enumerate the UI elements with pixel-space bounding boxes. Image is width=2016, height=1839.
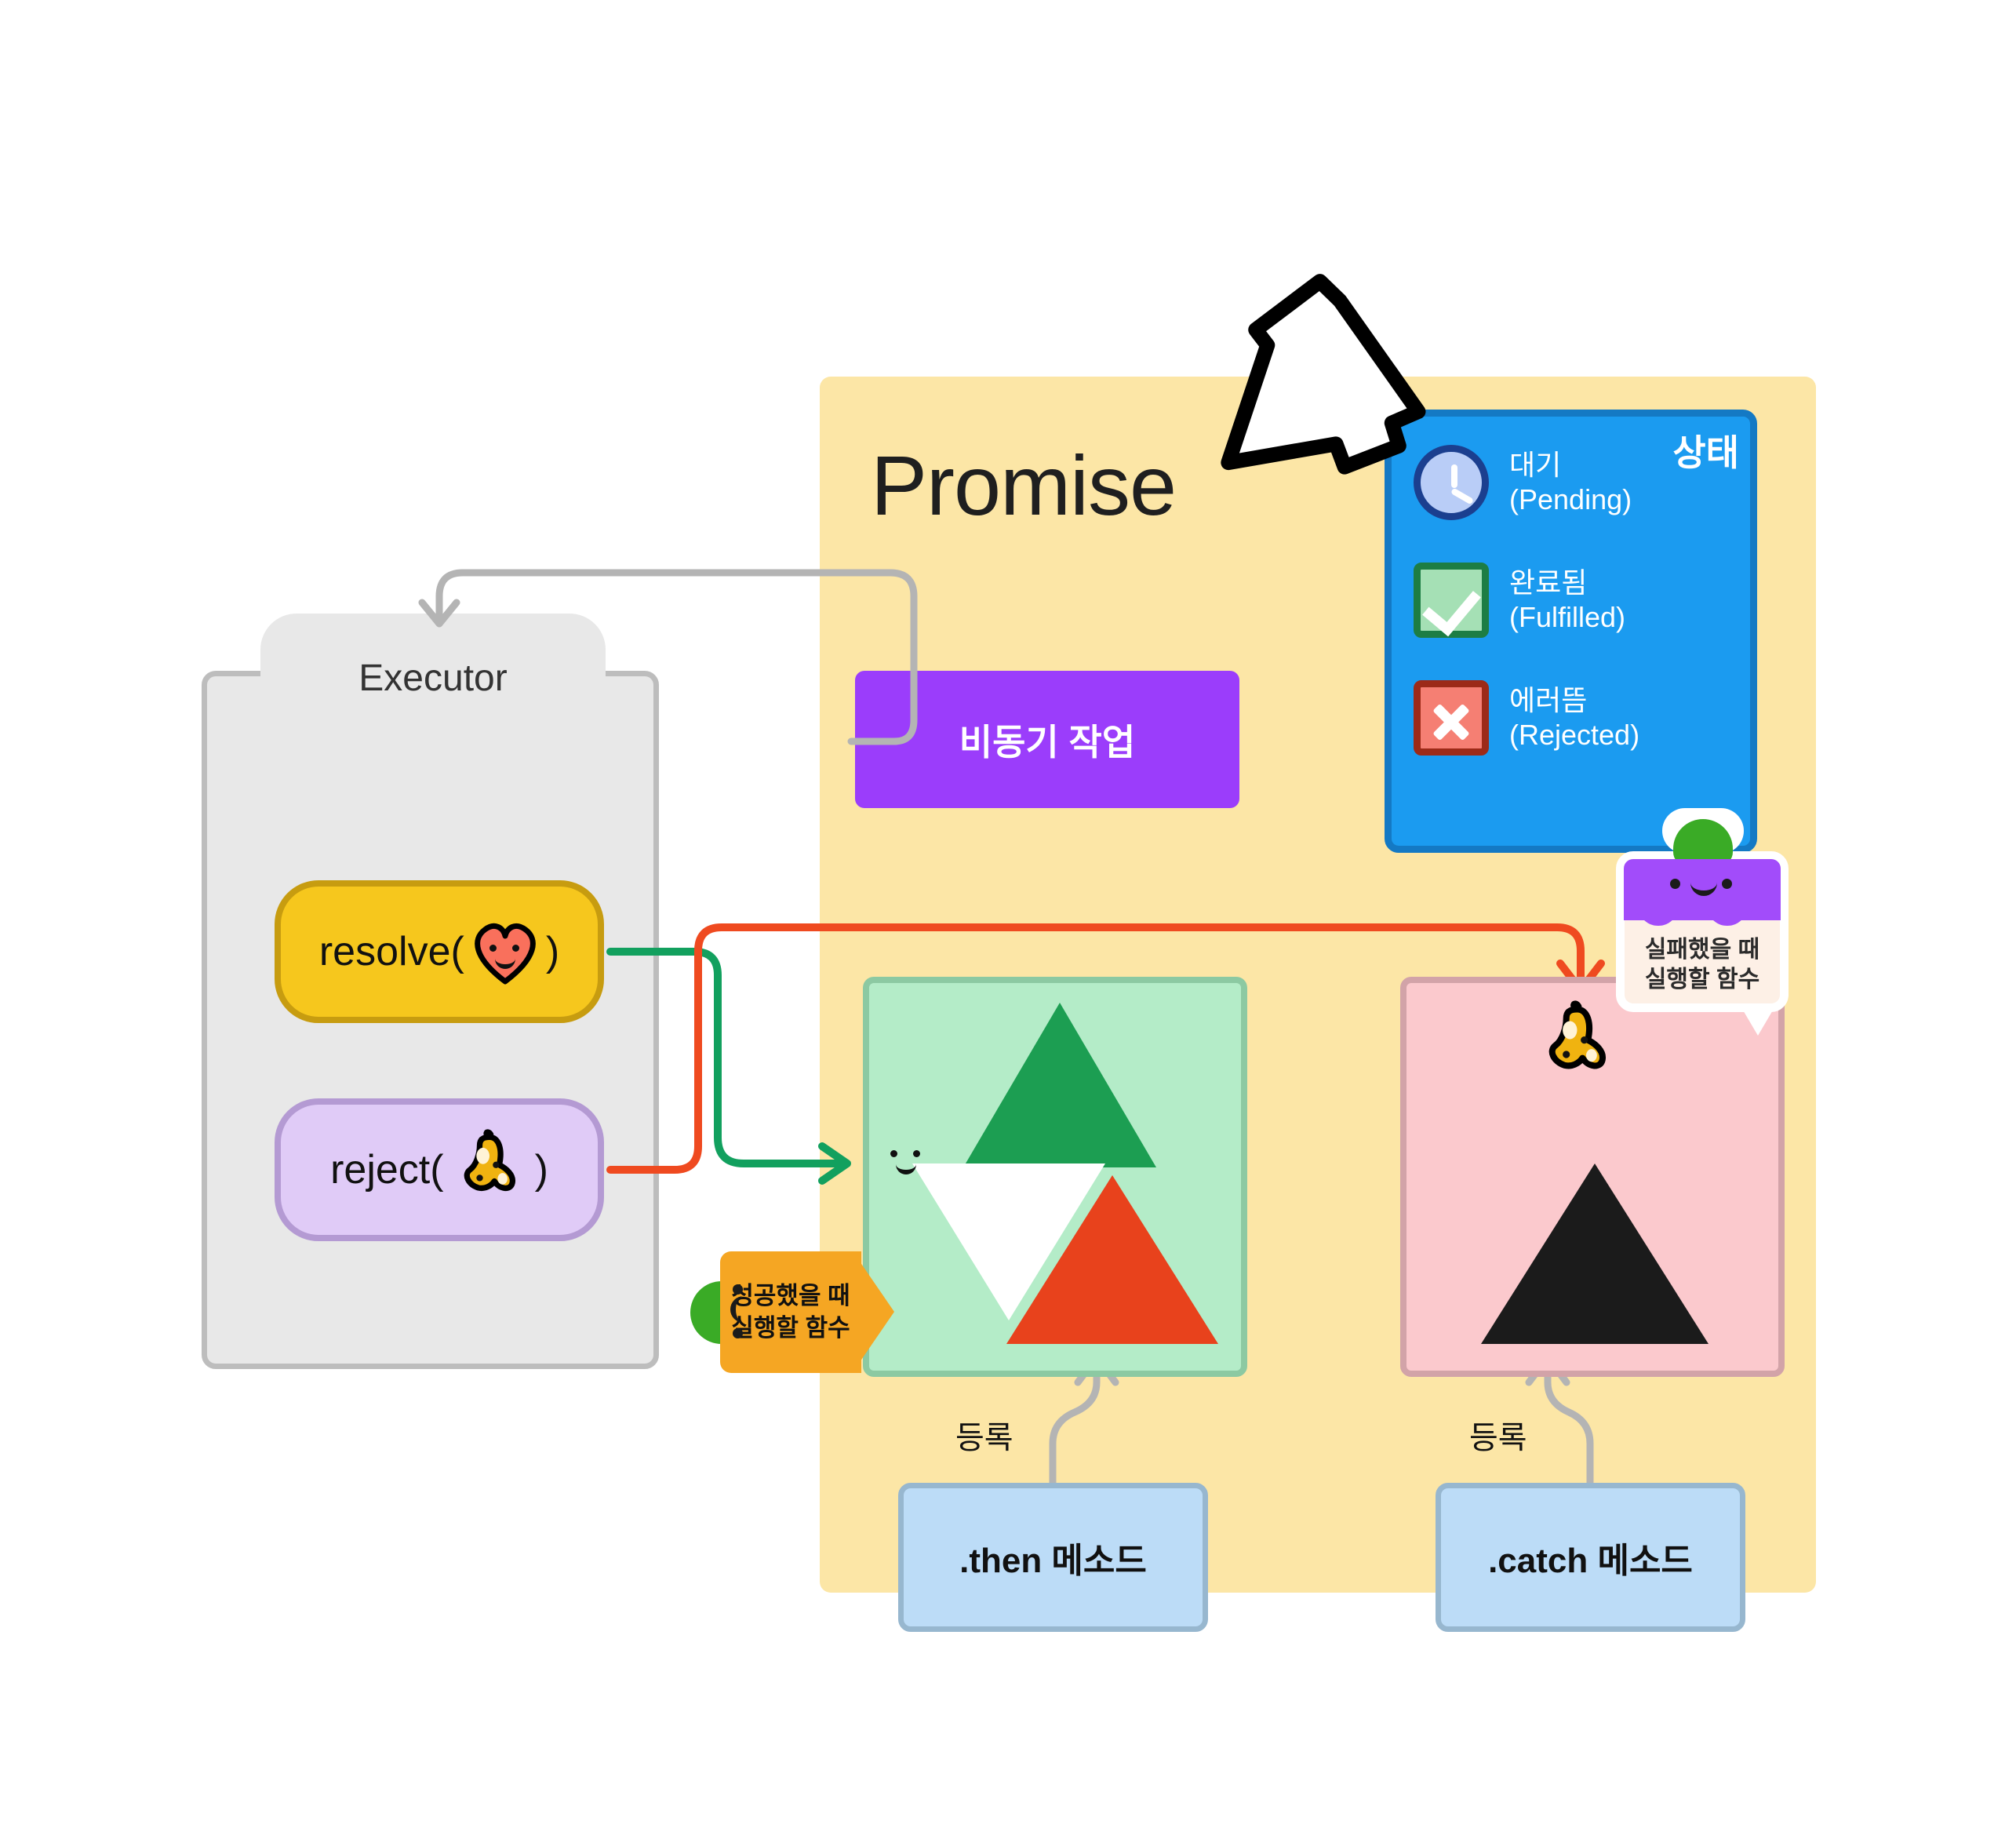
then-method-box[interactable]: .then 메소드 [898,1483,1208,1632]
catch-method-box[interactable]: .catch 메소드 [1436,1483,1745,1632]
turnip-wave [1624,909,1781,929]
banana-peel-icon-badge [1532,1000,1622,1091]
fail-callout-tail [1742,1009,1774,1036]
carrot-face-icon [730,1284,750,1341]
diagram-canvas: Promise 비동기 작업 상태 대기 (Pending) 완료됨 (Fulf… [0,0,2016,1839]
fail-callout: 실패했을 때 실행할 함수 [1616,851,1789,1012]
then-panel [863,977,1247,1377]
fail-callout-line2: 실행할 함수 [1625,965,1780,995]
catch-register-label: 등록 [1469,1412,1527,1458]
catch-method-label: .catch 메소드 [1488,1532,1693,1582]
then-method-label: .then 메소드 [959,1532,1147,1582]
fail-callout-line1: 실패했을 때 [1625,935,1780,965]
success-callout: 성공했을 때 실행할 함수 [690,1251,886,1373]
red-triangle-icon [1006,1175,1218,1344]
fail-callout-text: 실패했을 때 실행할 함수 [1625,935,1780,996]
green-triangle-icon [963,1003,1156,1167]
carrot-tip-icon [858,1259,894,1364]
black-triangle-icon [1481,1163,1709,1344]
catch-panel [1400,977,1785,1377]
then-register-label: 등록 [955,1412,1013,1458]
